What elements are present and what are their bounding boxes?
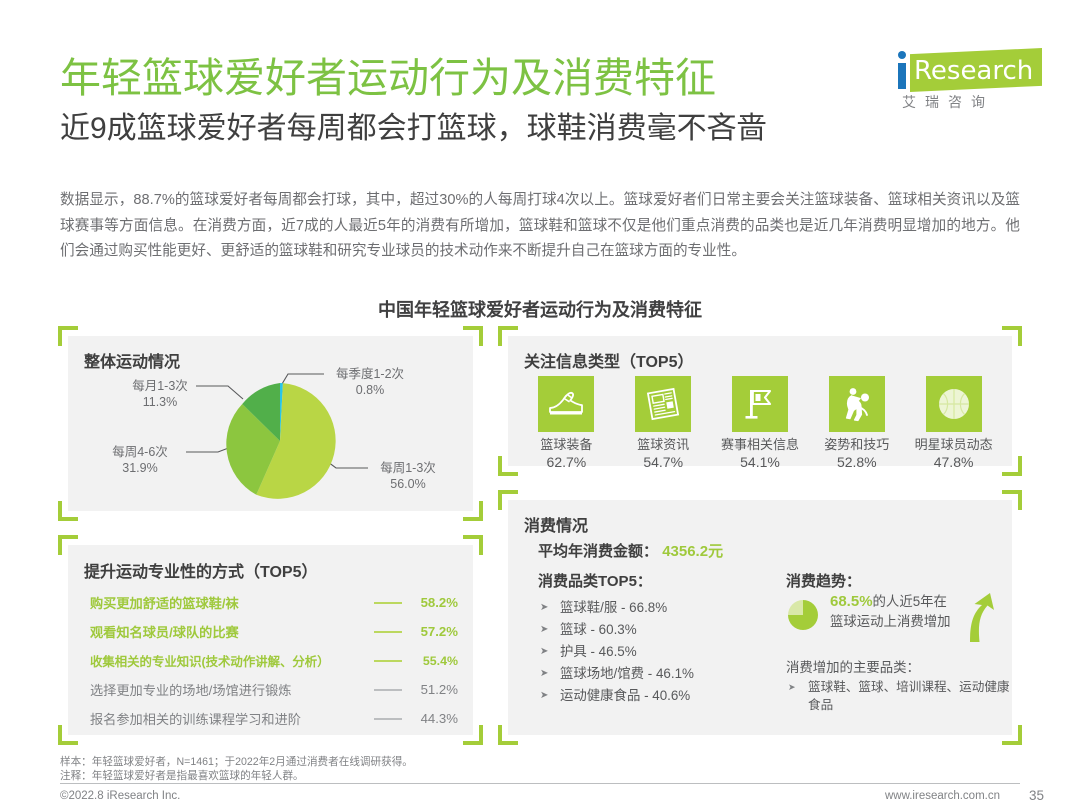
methods-row-dash: [374, 631, 402, 633]
footnote-sample: 样本：年轻篮球爱好者，N=1461；于2022年2月通过消费者在线调研获得。: [60, 755, 620, 769]
methods-row-label: 报名参加相关的训练课程学习和进阶: [90, 709, 301, 728]
iresearch-logo: Research 艾瑞咨询: [892, 48, 1042, 110]
methods-row: 收集相关的专业知识(技术动作讲解、分析） 55.4%: [90, 647, 458, 674]
spend-category-item: 篮球鞋/服 - 66.8%: [538, 597, 778, 619]
leader-line-quarterly: [282, 374, 324, 384]
corner-bracket-tl: [58, 326, 78, 346]
methods-row-label: 观看知名球员/球队的比赛: [90, 622, 239, 641]
info-type-label: 明星球员动态: [905, 436, 1002, 453]
spend-increase-items: 篮球鞋、篮球、培训课程、运动健康食品: [786, 678, 1022, 714]
logo-i-stem-icon: [898, 63, 906, 89]
info-type-item: 明星球员动态 47.8%: [905, 376, 1002, 471]
info-type-pct: 47.8%: [905, 453, 1002, 471]
spend-increase-heading: 消费增加的主要品类：: [786, 656, 920, 676]
footnotes: 样本：年轻篮球爱好者，N=1461；于2022年2月通过消费者在线调研获得。 注…: [60, 755, 620, 783]
basketball-player-icon: [829, 376, 885, 432]
header: 年轻篮球爱好者运动行为及消费特征 近9成篮球爱好者每周都会打篮球，球鞋消费毫不吝…: [60, 52, 1020, 150]
methods-row-dash: [374, 602, 402, 604]
leader-line-monthly: [196, 386, 243, 399]
methods-panel: 提升运动专业性的方式（TOP5） 购买更加舒适的篮球鞋/袜 58.2% 观看知名…: [68, 545, 473, 735]
page-title: 年轻篮球爱好者运动行为及消费特征: [60, 52, 1020, 104]
flag-icon: [732, 376, 788, 432]
intro-paragraph: 数据显示，88.7%的篮球爱好者每周都会打球，其中，超过30%的人每周打球4次以…: [60, 188, 1020, 265]
logo-mark: Research: [892, 48, 1042, 92]
footer-divider: [60, 783, 1020, 784]
corner-bracket-bl: [58, 725, 78, 745]
info-types-panel: 关注信息类型（TOP5） 篮球装备 62.7%: [508, 336, 1012, 466]
spend-trend-heading: 消费趋势：: [786, 570, 1001, 591]
corner-bracket-tr: [1002, 490, 1022, 510]
corner-bracket-bl: [498, 456, 518, 476]
overall-activity-panel: 整体运动情况 每月1-3次 11.3%: [68, 336, 473, 511]
basketball-icon: [926, 376, 982, 432]
corner-bracket-br: [1002, 456, 1022, 476]
spending-panel: 消费情况 平均年消费金额： 4356.2元 消费品类TOP5： 篮球鞋/服 - …: [508, 500, 1012, 735]
corner-bracket-br: [463, 725, 483, 745]
up-arrow-icon: [962, 592, 1000, 644]
spend-categories-column: 消费品类TOP5： 篮球鞋/服 - 66.8% 篮球 - 60.3% 护具 - …: [538, 570, 778, 707]
methods-row-pct: 44.3%: [412, 711, 458, 726]
corner-bracket-tl: [498, 326, 518, 346]
spend-trend-pct: 68.5%: [830, 593, 873, 610]
info-type-item: 赛事相关信息 54.1%: [712, 376, 809, 471]
spend-trend-row: 68.5%的人近5年在篮球运动上消费增加: [786, 592, 1001, 648]
chart-section-title: 中国年轻篮球爱好者运动行为及消费特征: [0, 296, 1080, 322]
info-type-item: 篮球装备 62.7%: [518, 376, 615, 471]
avg-annual-spend-value: 4356.2元: [662, 543, 723, 560]
spend-category-item: 护具 - 46.5%: [538, 641, 778, 663]
spend-trend-text: 68.5%的人近5年在篮球运动上消费增加: [830, 592, 954, 632]
methods-title: 提升运动专业性的方式（TOP5）: [84, 558, 318, 582]
spending-title: 消费情况: [524, 512, 588, 536]
info-type-label: 篮球装备: [518, 436, 615, 453]
corner-bracket-bl: [498, 725, 518, 745]
methods-row-dash: [374, 660, 402, 662]
website-url[interactable]: www.iresearch.com.cn: [885, 790, 1000, 802]
info-types-icon-row: 篮球装备 62.7% 篮球资讯 54.7%: [518, 376, 1002, 471]
copyright-text: ©2022.8 iResearch Inc.: [60, 790, 180, 802]
slide-page: 年轻篮球爱好者运动行为及消费特征 近9成篮球爱好者每周都会打篮球，球鞋消费毫不吝…: [0, 0, 1080, 810]
methods-row-dash: [374, 718, 402, 720]
info-type-pct: 54.1%: [712, 453, 809, 471]
methods-row-label: 收集相关的专业知识(技术动作讲解、分析）: [90, 652, 330, 670]
methods-row: 购买更加舒适的篮球鞋/袜 58.2%: [90, 589, 458, 616]
info-type-label: 姿势和技巧: [808, 436, 905, 453]
logo-wordmark: Research: [914, 50, 1044, 92]
spend-categories-heading: 消费品类TOP5：: [538, 570, 778, 591]
corner-bracket-bl: [58, 501, 78, 521]
methods-row-pct: 58.2%: [412, 595, 458, 610]
corner-bracket-br: [1002, 725, 1022, 745]
footnote-note: 注释：年轻篮球爱好者是指最喜欢篮球的年轻人群。: [60, 769, 620, 783]
corner-bracket-tl: [58, 535, 78, 555]
pie-fraction-icon: [786, 598, 820, 632]
logo-chinese-name: 艾瑞咨询: [902, 92, 1042, 112]
methods-row-dash: [374, 689, 402, 691]
info-types-title: 关注信息类型（TOP5）: [524, 348, 694, 372]
corner-bracket-tl: [498, 490, 518, 510]
methods-row-label: 购买更加舒适的篮球鞋/袜: [90, 593, 239, 612]
pie-label-quarterly-1-2: 每季度1-2次 0.8%: [322, 366, 418, 398]
methods-row-pct: 51.2%: [412, 682, 458, 697]
methods-row-label: 选择更加专业的场地/场馆进行锻炼: [90, 680, 291, 699]
methods-row: 观看知名球员/球队的比赛 57.2%: [90, 618, 458, 645]
info-type-pct: 54.7%: [615, 453, 712, 471]
info-type-label: 赛事相关信息: [712, 436, 809, 453]
info-type-pct: 52.8%: [808, 453, 905, 471]
page-number: 35: [1029, 788, 1044, 803]
avg-annual-spend-label: 平均年消费金额：: [538, 543, 658, 560]
info-type-item: 篮球资讯 54.7%: [615, 376, 712, 471]
page-subtitle: 近9成篮球爱好者每周都会打篮球，球鞋消费毫不吝啬: [60, 108, 1020, 150]
corner-bracket-tr: [1002, 326, 1022, 346]
spend-category-item: 篮球场地/馆费 - 46.1%: [538, 663, 778, 685]
shoe-icon: [538, 376, 594, 432]
corner-bracket-tr: [463, 326, 483, 346]
spend-category-item: 篮球 - 60.3%: [538, 619, 778, 641]
info-type-item: 姿势和技巧 52.8%: [808, 376, 905, 471]
newspaper-icon: [635, 376, 691, 432]
methods-row: 选择更加专业的场地/场馆进行锻炼 51.2%: [90, 676, 458, 703]
corner-bracket-tr: [463, 535, 483, 555]
info-type-pct: 62.7%: [518, 453, 615, 471]
methods-row-pct: 57.2%: [412, 624, 458, 639]
info-type-label: 篮球资讯: [615, 436, 712, 453]
logo-i-dot-icon: [898, 51, 906, 59]
corner-bracket-br: [463, 501, 483, 521]
avg-annual-spend: 平均年消费金额： 4356.2元: [538, 540, 723, 561]
spend-category-item: 运动健康食品 - 40.6%: [538, 685, 778, 707]
methods-row: 报名参加相关的训练课程学习和进阶 44.3%: [90, 705, 458, 732]
pie-label-monthly-1-3: 每月1-3次 11.3%: [120, 378, 200, 410]
pie-label-weekly-4-6: 每周4-6次 31.9%: [96, 444, 184, 476]
pie-label-weekly-1-3: 每周1-3次 56.0%: [366, 460, 450, 492]
pie-chart: 每月1-3次 11.3% 每周4-6次 31.9% 每季度1-2次 0.8% 每…: [68, 336, 473, 511]
methods-row-pct: 55.4%: [412, 654, 458, 668]
